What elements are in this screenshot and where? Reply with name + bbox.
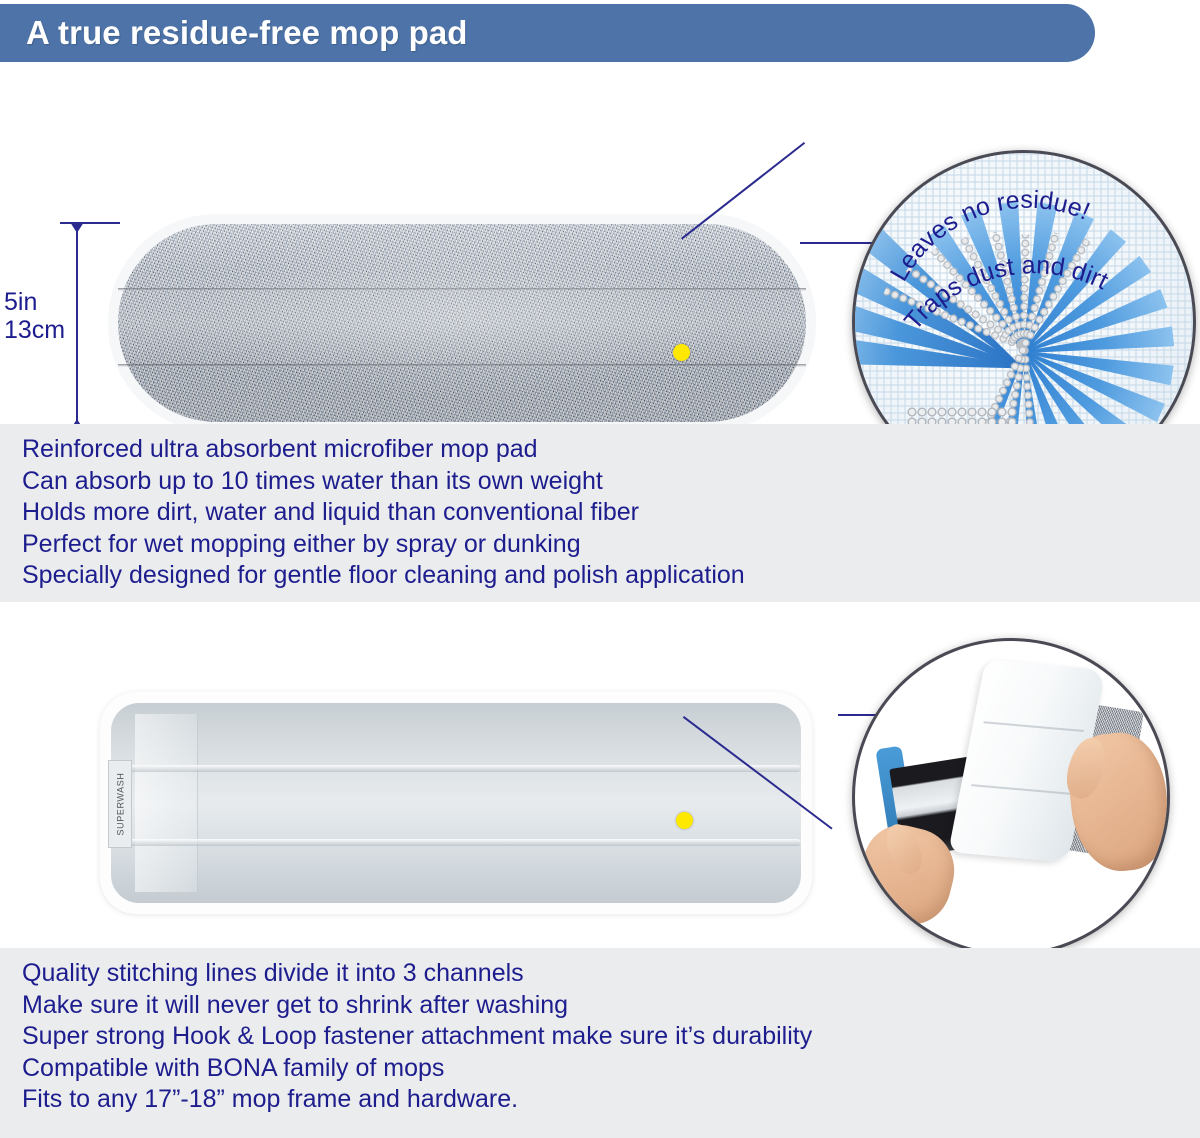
height-label-cm: 13cm (4, 316, 74, 344)
list-item: Holds more dirt, water and liquid than c… (22, 497, 1200, 529)
height-dimension-line (76, 224, 78, 430)
white-pad-surface (111, 703, 801, 903)
channel-seam-2 (111, 839, 801, 846)
gray-mop-pad-image (108, 214, 816, 432)
white-mop-pad-image: SUPERWASH (100, 692, 812, 914)
list-item: Fits to any 17”-18” mop frame and hardwa… (22, 1084, 1200, 1116)
photo-pad-seam-1 (983, 721, 1084, 732)
section-1-feature-panel: Reinforced ultra absorbent microfiber mo… (0, 424, 1200, 602)
hook-loop-strip (135, 714, 198, 892)
list-item: Reinforced ultra absorbent microfiber mo… (22, 434, 1200, 466)
list-item: Quality stitching lines divide it into 3… (22, 958, 1200, 990)
list-item: Compatible with BONA family of mops (22, 1053, 1200, 1085)
gray-pad-fiber-texture (118, 224, 806, 422)
callout-marker-dot-2 (676, 812, 693, 829)
header-banner: A true residue-free mop pad (0, 4, 1095, 62)
page-title: A true residue-free mop pad (26, 14, 468, 52)
height-dimension-label: 5in 13cm (4, 288, 74, 344)
care-label-tag: SUPERWASH (108, 760, 132, 848)
section-2-feature-list: Quality stitching lines divide it into 3… (0, 948, 1200, 1116)
mop-attachment-photo-circle (852, 638, 1170, 956)
list-item: Super strong Hook & Loop fastener attach… (22, 1021, 1200, 1053)
gray-pad-shading (118, 224, 806, 422)
height-label-inches: 5in (4, 288, 74, 316)
section-1-feature-list: Reinforced ultra absorbent microfiber mo… (0, 424, 1200, 592)
list-item: Make sure it will never get to shrink af… (22, 990, 1200, 1022)
arrow-up-icon (70, 222, 84, 233)
list-item: Perfect for wet mopping either by spray … (22, 529, 1200, 561)
dimension-tick-top (60, 222, 120, 224)
section-2-feature-panel: Quality stitching lines divide it into 3… (0, 948, 1200, 1138)
care-label-text: SUPERWASH (115, 773, 125, 836)
callout-marker-dot-1 (673, 344, 690, 361)
channel-seam-1 (111, 765, 801, 772)
list-item: Specially designed for gentle floor clea… (22, 560, 1200, 592)
list-item: Can absorb up to 10 times water than its… (22, 466, 1200, 498)
section-1-image-area: 5in 13cm 18in / 46cm (0, 66, 1200, 424)
photo-pad-seam-2 (971, 784, 1072, 795)
